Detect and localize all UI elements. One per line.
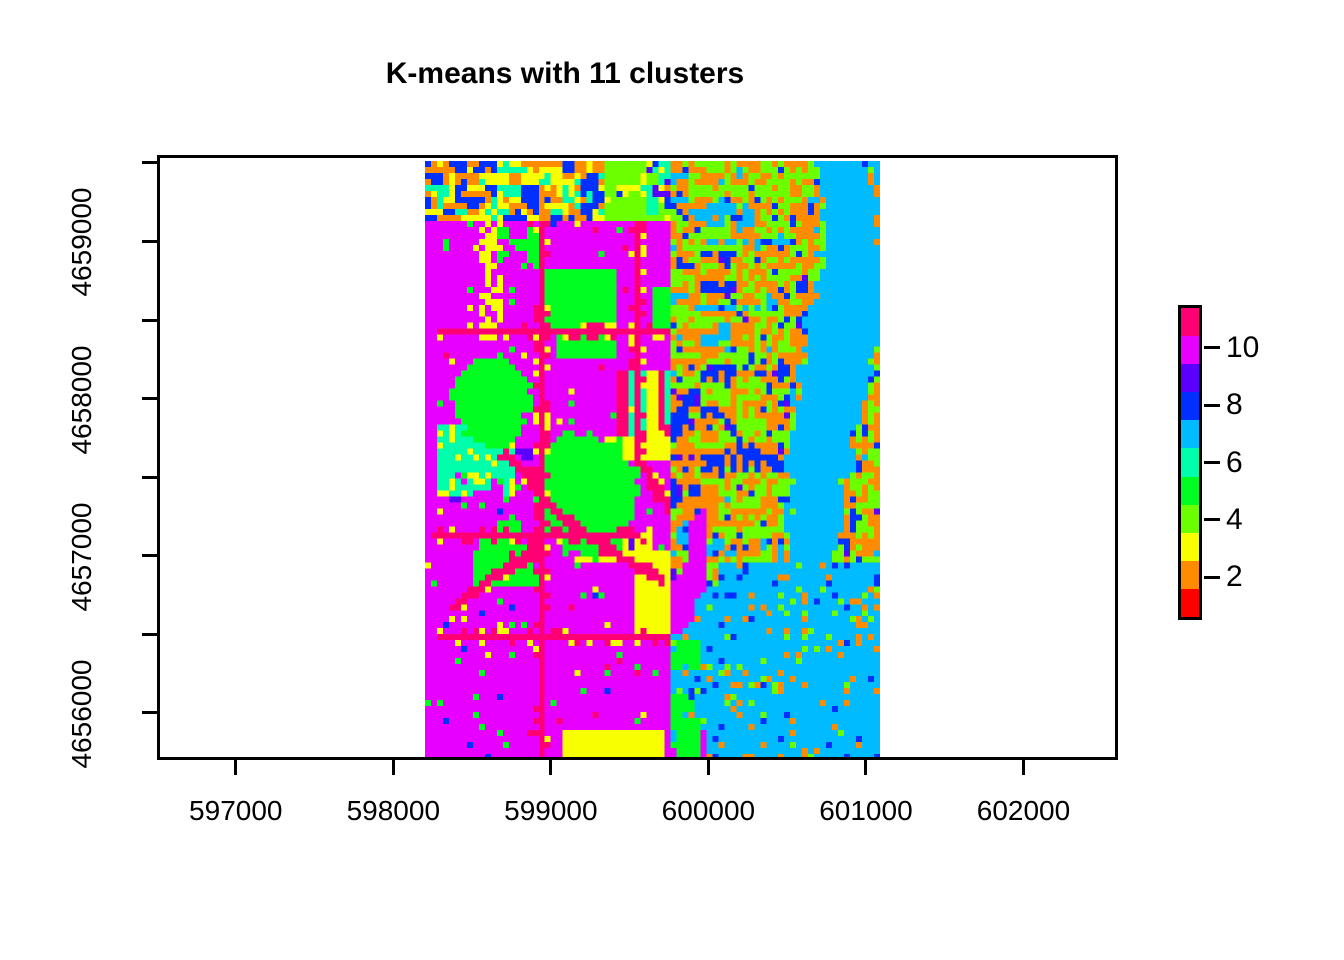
legend-tick-label: 4 bbox=[1226, 503, 1243, 537]
y-axis-tick bbox=[142, 161, 157, 164]
cluster-raster-image bbox=[425, 161, 880, 757]
plot-root: K-means with 11 clusters 246810 59700059… bbox=[0, 0, 1344, 960]
legend-tick-label: 8 bbox=[1226, 388, 1243, 422]
y-axis-tick bbox=[142, 240, 157, 243]
legend-tick bbox=[1204, 576, 1220, 579]
legend-swatch-4 bbox=[1181, 505, 1199, 533]
x-axis-tick-label: 602000 bbox=[977, 795, 1070, 827]
legend-tick-label: 2 bbox=[1226, 560, 1243, 594]
legend-tick-label: 10 bbox=[1226, 331, 1259, 365]
plot-panel-frame bbox=[157, 155, 1118, 760]
legend-swatch-2 bbox=[1181, 561, 1199, 589]
x-axis-tick-label: 598000 bbox=[347, 795, 440, 827]
x-axis-tick-label: 600000 bbox=[662, 795, 755, 827]
x-axis-tick bbox=[549, 760, 552, 775]
y-axis-tick-label: 4658000 bbox=[27, 384, 137, 414]
x-axis-tick bbox=[864, 760, 867, 775]
color-legend: 246810 bbox=[1178, 305, 1202, 620]
legend-tick-label: 6 bbox=[1226, 446, 1243, 480]
x-axis-tick bbox=[707, 760, 710, 775]
x-axis-tick-label: 597000 bbox=[189, 795, 282, 827]
legend-tick bbox=[1204, 518, 1220, 521]
x-axis-tick-label: 601000 bbox=[819, 795, 912, 827]
legend-swatch-1 bbox=[1181, 589, 1199, 617]
page-title: K-means with 11 clusters bbox=[0, 57, 1130, 91]
y-axis-tick-label: 4657000 bbox=[27, 541, 137, 571]
legend-swatch-8 bbox=[1181, 392, 1199, 420]
y-axis-tick bbox=[142, 633, 157, 636]
y-axis-tick bbox=[142, 476, 157, 479]
legend-tick bbox=[1204, 404, 1220, 407]
legend-swatch-3 bbox=[1181, 533, 1199, 561]
x-axis-tick bbox=[392, 760, 395, 775]
y-axis-tick bbox=[142, 554, 157, 557]
y-axis-tick-label: 4659000 bbox=[27, 226, 137, 256]
x-axis-tick-label: 599000 bbox=[504, 795, 597, 827]
y-axis-tick-label: 4656000 bbox=[27, 698, 137, 728]
legend-swatch-10 bbox=[1181, 336, 1199, 364]
legend-colorbar bbox=[1178, 305, 1202, 620]
x-axis-tick bbox=[234, 760, 237, 775]
legend-swatch-11 bbox=[1181, 308, 1199, 336]
legend-tick bbox=[1204, 346, 1220, 349]
legend-swatch-6 bbox=[1181, 448, 1199, 476]
legend-swatch-7 bbox=[1181, 420, 1199, 448]
y-axis-tick bbox=[142, 711, 157, 714]
legend-swatch-5 bbox=[1181, 477, 1199, 505]
y-axis-tick bbox=[142, 319, 157, 322]
x-axis-tick bbox=[1022, 760, 1025, 775]
legend-tick bbox=[1204, 461, 1220, 464]
plot-panel-clip bbox=[160, 158, 1115, 757]
legend-swatch-9 bbox=[1181, 364, 1199, 392]
y-axis-tick bbox=[142, 397, 157, 400]
